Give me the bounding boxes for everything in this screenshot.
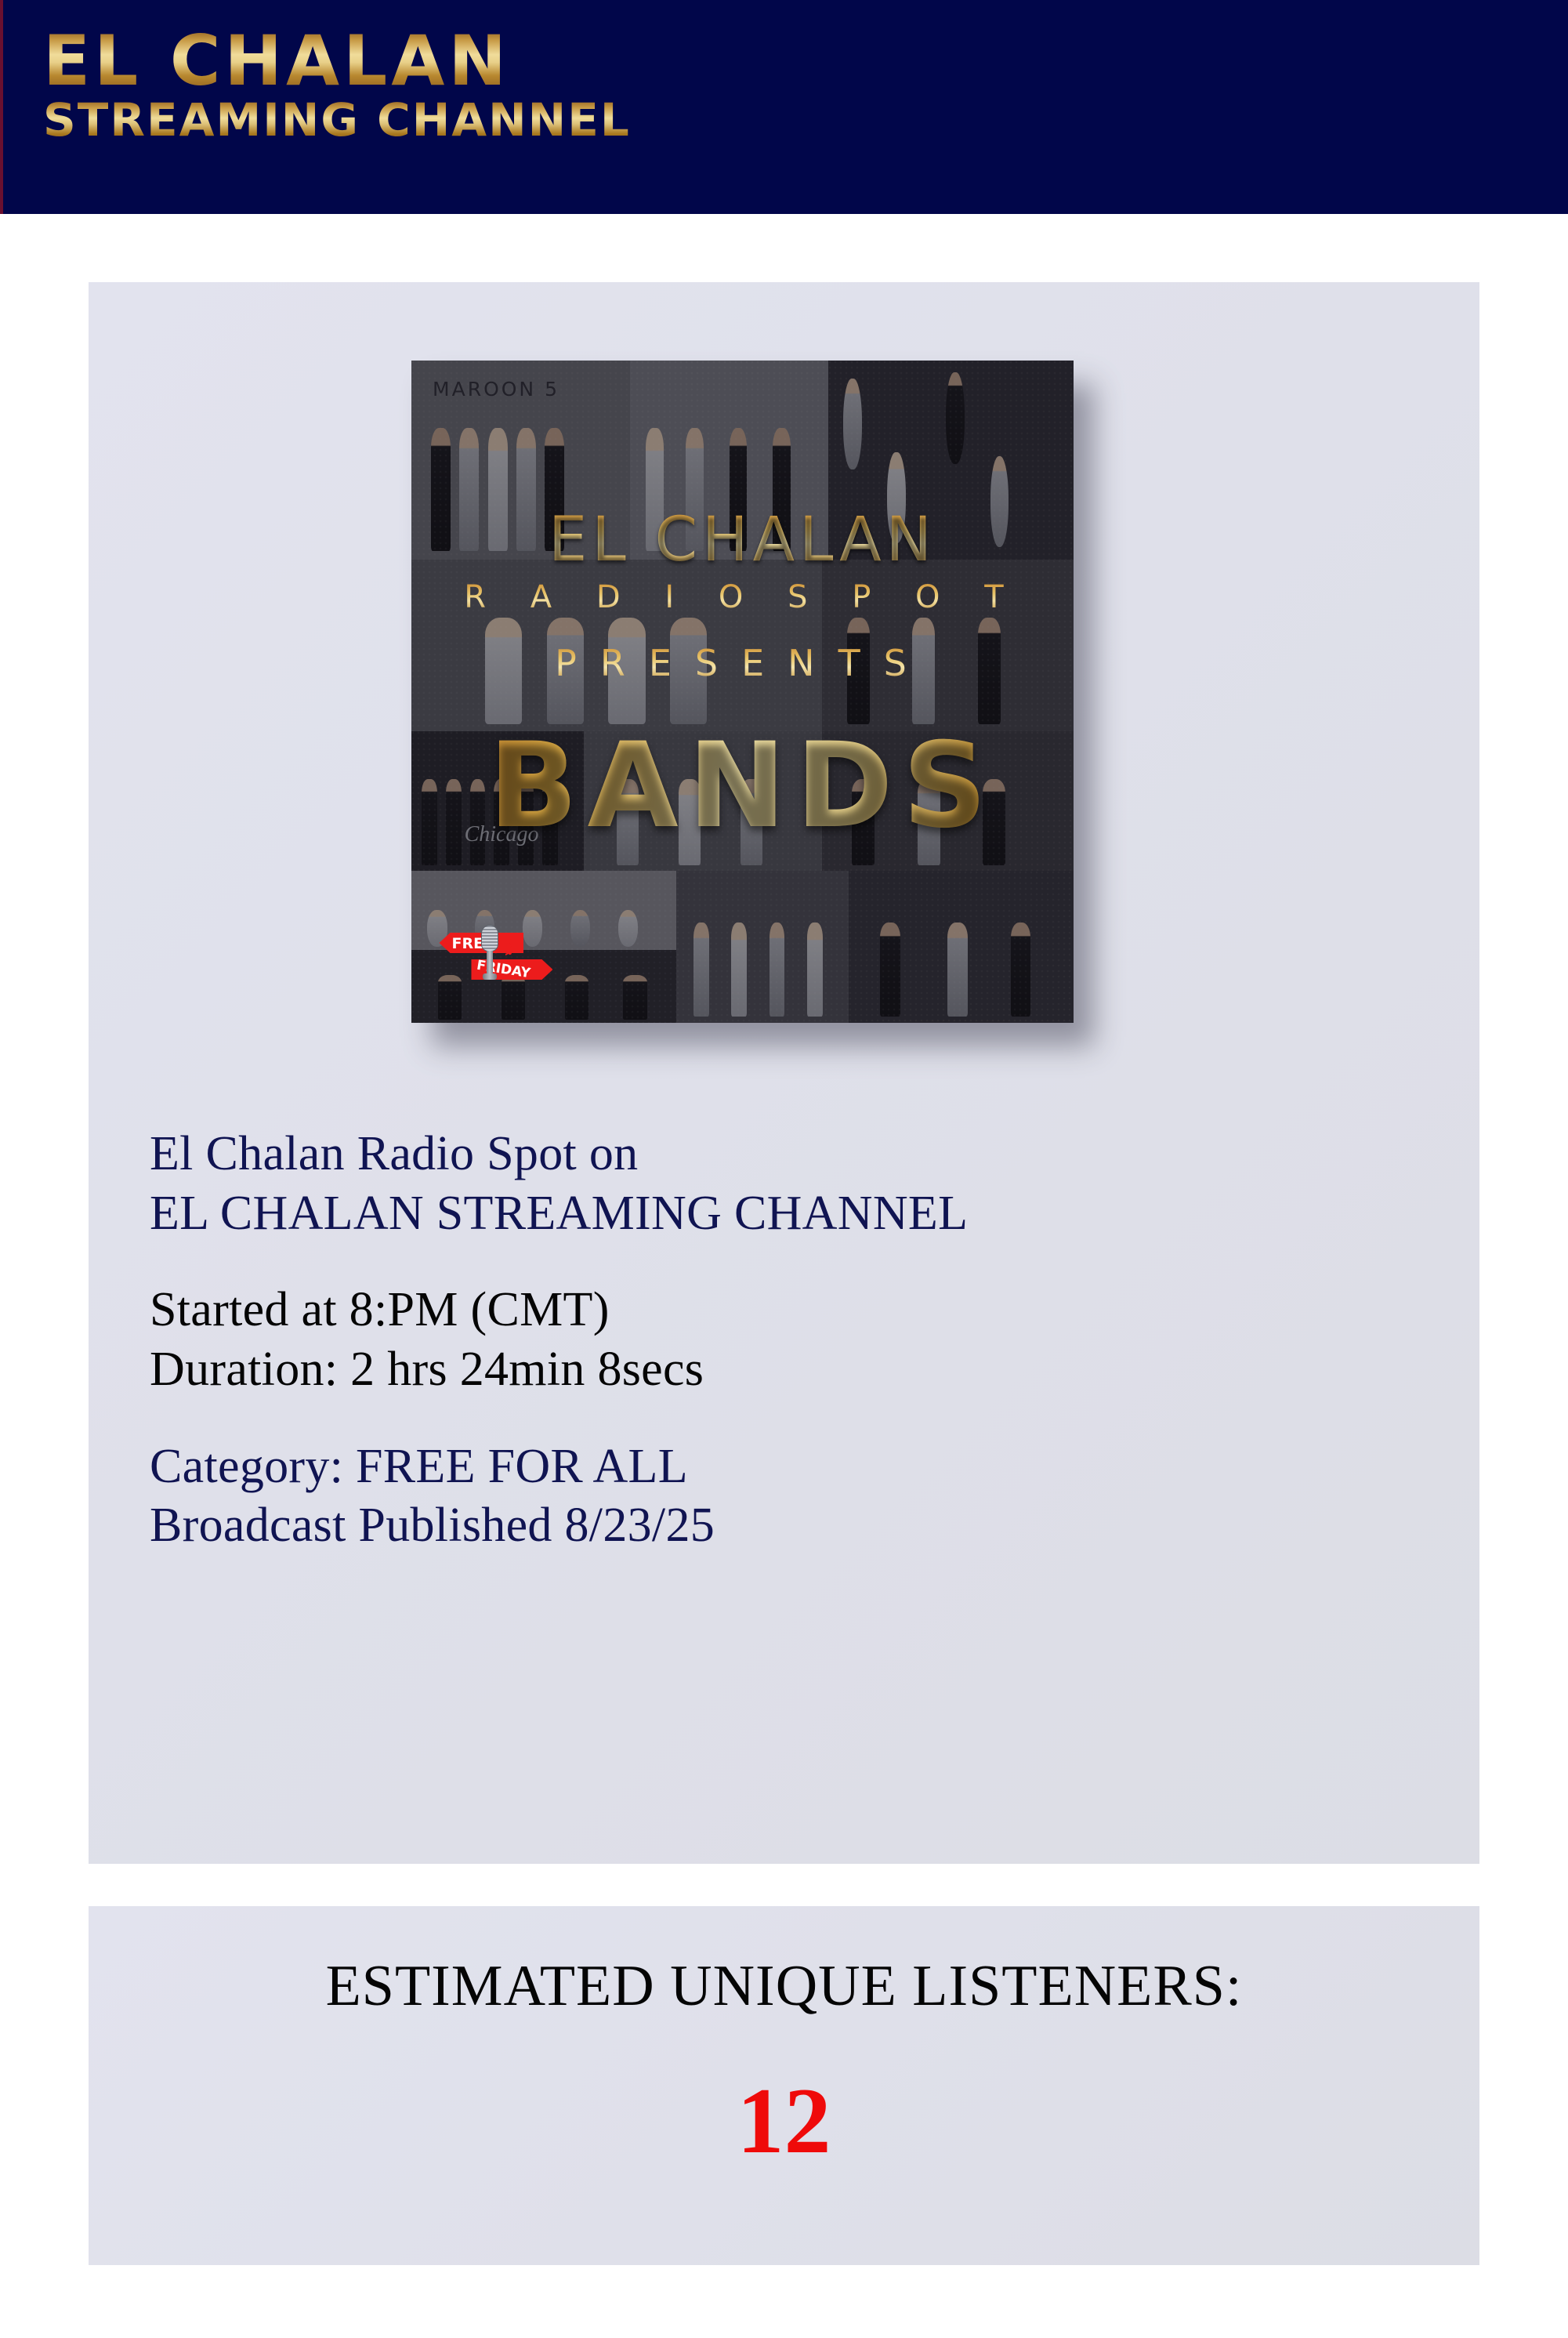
listeners-label: ESTIMATED UNIQUE LISTENERS:: [89, 1953, 1479, 2020]
broadcast-published-date: Broadcast Published 8/23/25: [150, 1496, 1419, 1556]
broadcast-category: Category: FREE FOR ALL: [150, 1437, 1419, 1497]
broadcast-details: El Chalan Radio Spot on EL CHALAN STREAM…: [150, 1125, 1419, 1556]
artwork-title: BANDS: [411, 718, 1074, 854]
artwork-canvas: MAROON 5 Chicago EL CHALAN R A D I O S P…: [411, 361, 1074, 1023]
broadcast-duration: Duration: 2 hrs 24min 8secs: [150, 1340, 1419, 1400]
broadcast-meta-block: Category: FREE FOR ALL Broadcast Publish…: [150, 1437, 1419, 1556]
broadcast-title-line2: EL CHALAN STREAMING CHANNEL: [150, 1184, 1419, 1244]
logo-line-primary: EL CHALAN: [43, 28, 631, 94]
artwork-sub-line: R A D I O S P O T: [411, 579, 1074, 615]
album-artwork[interactable]: MAROON 5 Chicago EL CHALAN R A D I O S P…: [411, 361, 1074, 1023]
broadcast-title-line1: El Chalan Radio Spot on: [150, 1125, 1419, 1184]
listeners-count: 12: [89, 2067, 1479, 2175]
broadcast-card: MAROON 5 Chicago EL CHALAN R A D I O S P…: [89, 282, 1479, 1864]
broadcast-title-block: El Chalan Radio Spot on EL CHALAN STREAM…: [150, 1125, 1419, 1243]
broadcast-time-block: Started at 8:PM (CMT) Duration: 2 hrs 24…: [150, 1281, 1419, 1399]
listeners-card: ESTIMATED UNIQUE LISTENERS: 12: [89, 1906, 1479, 2265]
logo-line-secondary: STREAMING CHANNEL: [43, 99, 631, 143]
artwork-brand-line: EL CHALAN: [411, 505, 1074, 575]
free-for-all-friday-badge: FREE FOR ALL FRIDAY: [439, 919, 552, 993]
microphone-icon: [481, 925, 498, 986]
artwork-presents-line: PRESENTS: [411, 642, 1074, 684]
broadcast-start-time: Started at 8:PM (CMT): [150, 1281, 1419, 1340]
broadcast-summary-page: EL CHALAN STREAMING CHANNEL: [0, 0, 1568, 2338]
header-banner: EL CHALAN STREAMING CHANNEL: [0, 0, 1568, 214]
channel-logo: EL CHALAN STREAMING CHANNEL: [43, 28, 631, 143]
